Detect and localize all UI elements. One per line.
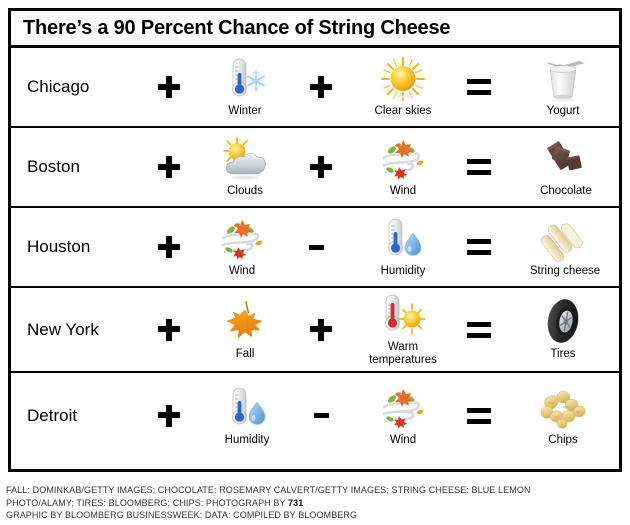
operator-equals [459,128,499,206]
result-label: Yogurt [547,105,580,118]
term-humidity: Humidity [351,208,455,286]
term-label: Humidity [225,434,270,447]
term-humidity: Humidity [199,373,295,458]
city-label-cell: Chicago [27,48,89,126]
operator-plus [149,128,189,206]
operator-equals [459,208,499,286]
operator-plus [301,128,341,206]
operator-plus [149,373,189,458]
equals-icon [467,408,491,424]
result-yogurt: Yogurt [511,48,615,126]
infographic-page: There’s a 90 Percent Chance of String Ch… [0,0,630,525]
city-label-cell: Houston [27,208,90,286]
city-name: Detroit [27,406,77,426]
equals-icon [467,322,491,338]
string-cheese-icon [537,216,593,262]
term-warm-temperatures: Warm temperatures [347,288,459,371]
term-clear-skies: Clear skies [351,48,455,126]
city-name: Boston [27,157,80,177]
table-row: Chicago [11,48,619,128]
result-label: Chocolate [540,185,592,198]
operator-equals [459,373,499,458]
thermometer-sun-icon [378,292,428,338]
yogurt-cup-icon [535,56,591,102]
equation-table: Chicago [8,48,622,472]
result-chips: Chips [509,373,617,458]
operator-plus [149,48,189,126]
term-label: Fall [236,348,255,361]
operator-minus [301,373,341,458]
operator-equals [459,288,499,371]
credit-line-2-text: PHOTO/ALAMY; TIRES: BLOOMBERG; CHIPS: PH… [6,498,288,508]
term-label: Wind [390,185,416,198]
term-label: Clouds [227,185,263,198]
city-label-cell: Detroit [27,373,77,458]
table-row: Boston [11,128,619,208]
result-label: Chips [548,434,577,447]
term-label: Humidity [381,265,426,278]
city-label-cell: Boston [27,128,80,206]
term-winter: Winter [199,48,291,126]
thermometer-droplet-icon [380,216,426,262]
term-label: Warm temperatures [369,341,437,367]
page-title: There’s a 90 Percent Chance of String Ch… [11,17,450,40]
chocolate-bar-icon [540,136,592,182]
city-name: Houston [27,237,90,257]
plus-icon [310,76,332,98]
result-tires: Tires [511,288,615,371]
table-row: Detroit [11,373,619,458]
wind-leaves-icon [378,136,428,182]
plus-icon [158,76,180,98]
equals-icon [467,79,491,95]
plus-icon [158,319,180,341]
credits-block: FALL: DOMINKAB/GETTY IMAGES; CHOCOLATE: … [6,484,624,522]
operator-plus [149,208,189,286]
thermometer-droplet-icon [224,385,270,431]
result-chocolate: Chocolate [511,128,621,206]
title-bar: There’s a 90 Percent Chance of String Ch… [8,8,622,48]
operator-equals [459,48,499,126]
plus-icon [310,319,332,341]
sun-behind-cloud-icon [220,136,270,182]
plus-icon [158,405,180,427]
table-row: New York [11,288,619,373]
city-name: New York [27,320,99,340]
term-fall: Fall [199,288,291,371]
term-clouds: Clouds [199,128,291,206]
wind-leaves-icon [217,216,267,262]
term-wind: Wind [194,208,290,286]
potato-chips-icon [533,385,593,431]
minus-icon [309,245,324,250]
plus-icon [310,156,332,178]
term-label: Winter [228,105,261,118]
wind-leaves-icon [378,385,428,431]
sun-icon [380,56,426,102]
result-label: String cheese [530,265,600,278]
term-label: Wind [229,265,255,278]
result-string-cheese: String cheese [507,208,623,286]
credit-line-1: FALL: DOMINKAB/GETTY IMAGES; CHOCOLATE: … [6,484,624,497]
city-name: Chicago [27,77,89,97]
term-label: Wind [390,434,416,447]
plus-icon [158,156,180,178]
term-wind: Wind [351,373,455,458]
credit-line-2: PHOTO/ALAMY; TIRES: BLOOMBERG; CHIPS: PH… [6,497,624,510]
city-label-cell: New York [27,288,99,371]
operator-minus [296,208,336,286]
equals-icon [467,159,491,175]
operator-plus [301,48,341,126]
plus-icon [158,236,180,258]
term-label: Clear skies [375,105,432,118]
table-row: Houston [11,208,619,288]
thermometer-snowflake-icon [222,56,268,102]
operator-plus [149,288,189,371]
equals-icon [467,239,491,255]
result-label: Tires [550,348,575,361]
tire-icon [540,299,586,345]
maple-leaf-icon [222,299,268,345]
credit-line-3: GRAPHIC BY BLOOMBERG BUSINESSWEEK; DATA:… [6,509,624,522]
term-wind: Wind [351,128,455,206]
minus-icon [314,413,329,418]
credit-studio-number: 731 [288,498,303,508]
operator-plus [301,288,341,371]
